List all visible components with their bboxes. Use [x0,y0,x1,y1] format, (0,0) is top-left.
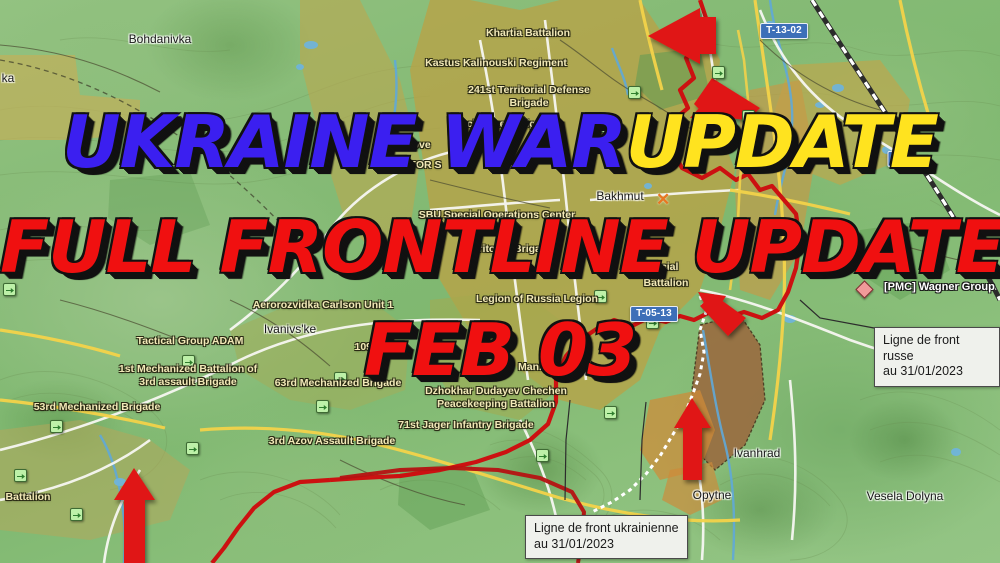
poi-marker[interactable] [334,372,347,385]
arrow-bottom-left-shaft [124,496,145,563]
callout-line-1: Ligne de front russe [883,333,991,364]
poi-marker[interactable] [742,110,755,123]
poi-marker[interactable] [316,400,329,413]
road-shield[interactable]: T-05-13 [630,306,678,322]
arrow-lower-right-shaft [683,424,702,480]
callout-line-2: au 31/01/2023 [534,537,679,553]
poi-marker[interactable] [3,283,16,296]
callout-line-2: au 31/01/2023 [883,364,991,380]
frontline-callout: Ligne de front ukrainienneau 31/01/2023 [525,515,688,559]
poi-marker[interactable] [712,66,725,79]
arrow-bottom-left-head [114,468,155,500]
poi-marker[interactable] [628,86,641,99]
map-screenshot: ✕ BohdanivkakaBakhmutIvanivs'keIvanhradO… [0,0,1000,563]
poi-marker[interactable] [594,120,607,133]
callout-line-1: Ligne de front ukrainienne [534,521,679,537]
poi-marker[interactable] [14,469,27,482]
poi-marker[interactable] [182,355,195,368]
poi-marker[interactable] [186,442,199,455]
poi-marker[interactable] [566,262,579,275]
road-shield[interactable]: -32 [887,151,914,167]
arrow-lower-right-head [674,398,711,428]
poi-marker[interactable] [536,449,549,462]
poi-marker[interactable] [594,290,607,303]
road-shield[interactable]: T-13-02 [760,23,808,39]
poi-marker[interactable] [604,406,617,419]
frontline-callout: Ligne de front russeau 31/01/2023 [874,327,1000,387]
attack-arrows [0,0,1000,563]
poi-marker[interactable] [50,420,63,433]
poi-marker[interactable] [70,508,83,521]
bakhmut-destroyed-marker: ✕ [656,191,670,208]
arrow-north-west-tail [698,17,716,54]
arrow-north-west [648,8,700,64]
